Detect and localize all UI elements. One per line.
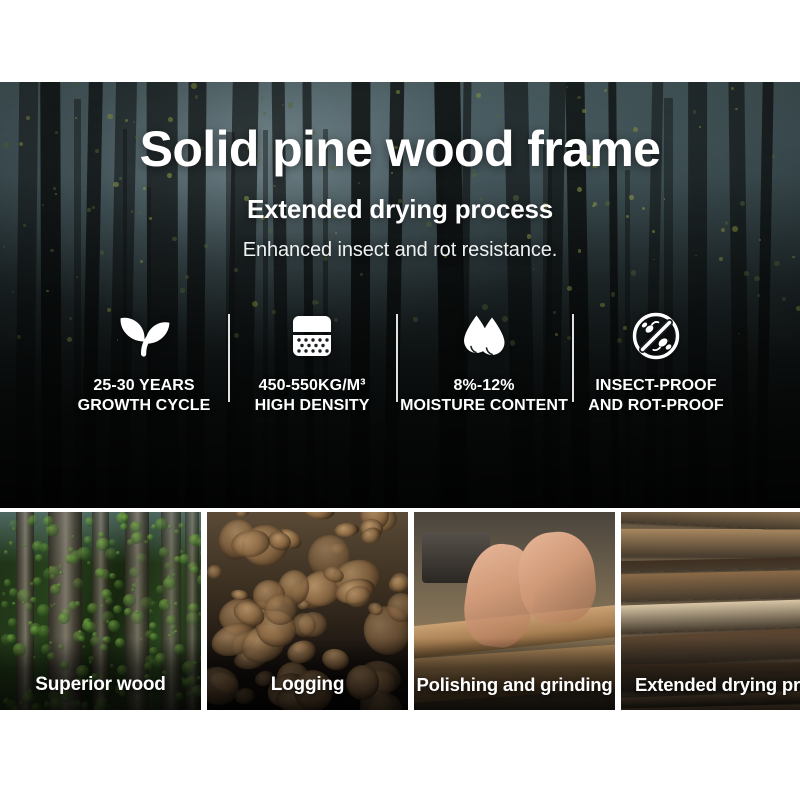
feature-label: INSECT-PROOF AND ROT-PROOF	[588, 376, 724, 417]
hero-banner: Solid pine wood frame Extended drying pr…	[0, 82, 800, 508]
feature-line-2: MOISTURE CONTENT	[400, 396, 568, 416]
feature-label: 25-30 YEARS GROWTH CYCLE	[78, 376, 211, 417]
feature-list: 25-30 YEARS GROWTH CYCLE	[60, 310, 740, 435]
feature-item-high-density: 450-550KG/M³ HIGH DENSITY	[228, 310, 396, 417]
feature-line-2: AND ROT-PROOF	[588, 396, 724, 416]
no-insect-icon	[631, 310, 681, 362]
thumbnail-logging[interactable]: Logging	[207, 512, 408, 710]
feature-label: 450-550KG/M³ HIGH DENSITY	[255, 376, 370, 417]
feature-label: 8%-12% MOISTURE CONTENT	[400, 376, 568, 417]
feature-line-1: 450-550KG/M³	[259, 377, 366, 394]
feature-line-2: HIGH DENSITY	[255, 396, 370, 416]
thumbnail-caption: Extended drying process	[621, 674, 800, 696]
feature-item-insect-proof: INSECT-PROOF AND ROT-PROOF	[572, 310, 740, 417]
feature-line-2: GROWTH CYCLE	[78, 396, 211, 416]
density-block-icon	[287, 310, 337, 362]
sprout-leaf-icon	[118, 310, 170, 362]
process-thumbnail-strip: Superior wood Logging Polishing and grin…	[0, 512, 800, 710]
thumbnail-caption: Superior wood	[0, 674, 201, 696]
product-infographic-page: Solid pine wood frame Extended drying pr…	[0, 0, 800, 800]
page-title: Solid pine wood frame	[0, 120, 800, 178]
feature-line-1: INSECT-PROOF	[595, 377, 716, 394]
thumbnail-caption: Logging	[207, 674, 408, 696]
thumbnail-superior-wood[interactable]: Superior wood	[0, 512, 201, 710]
thumbnail-polishing-and-grinding[interactable]: Polishing and grinding	[414, 512, 615, 710]
thumbnail-caption: Polishing and grinding	[414, 674, 615, 696]
feature-item-growth-cycle: 25-30 YEARS GROWTH CYCLE	[60, 310, 228, 417]
hero-subtitle: Extended drying process	[0, 194, 800, 225]
feature-line-1: 25-30 YEARS	[93, 377, 194, 394]
hero-tagline: Enhanced insect and rot resistance.	[0, 239, 800, 262]
feature-item-moisture-content: 8%-12% MOISTURE CONTENT	[396, 310, 572, 417]
feature-line-1: 8%-12%	[454, 377, 515, 394]
water-droplets-icon	[459, 310, 509, 362]
thumbnail-extended-drying-process[interactable]: Extended drying process	[621, 512, 800, 710]
hero-content: Solid pine wood frame Extended drying pr…	[0, 82, 800, 508]
